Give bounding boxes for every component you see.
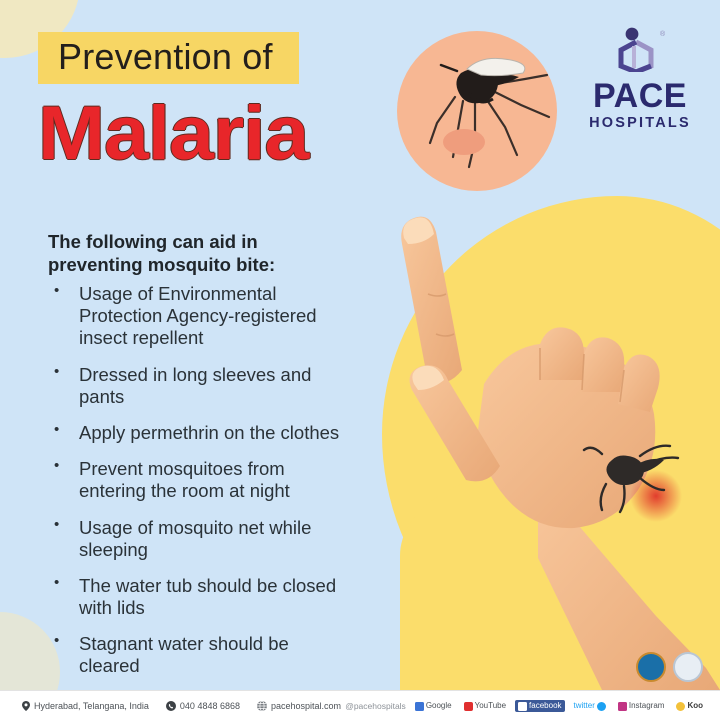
google-icon — [415, 702, 424, 711]
list-item: Usage of mosquito net while sleeping — [48, 517, 348, 561]
social-badge-facebook[interactable]: facebook — [515, 700, 564, 712]
footer-bar: Hyderabad, Telangana, India 040 4848 686… — [0, 690, 720, 720]
title-highlight-box: Prevention of — [38, 32, 299, 84]
social-badge-instagram[interactable]: Instagram — [615, 700, 668, 712]
accreditation-seal-blue — [636, 652, 666, 682]
list-item: Dressed in long sleeves and pants — [48, 364, 348, 408]
footer-website-text: pacehospital.com — [271, 701, 341, 711]
brand-logo: ® PACE HOSPITALS — [576, 26, 704, 131]
phone-icon — [166, 701, 176, 711]
accreditation-seals — [636, 652, 703, 682]
list-item: The water tub should be closed with lids — [48, 575, 348, 619]
lead-text: The following can aid in preventing mosq… — [48, 230, 338, 277]
facebook-icon — [518, 702, 527, 711]
globe-icon — [257, 701, 267, 711]
logo-name: PACE — [576, 79, 704, 113]
social-badge-instagram-label: Instagram — [629, 702, 665, 710]
footer-social-handle: @pacehospitals — [345, 701, 406, 711]
social-badge-google-label: Google — [426, 702, 452, 710]
hexagon-person-icon: ® — [576, 26, 704, 72]
list-item: Prevent mosquitoes from entering the roo… — [48, 458, 348, 502]
logo-subtitle: HOSPITALS — [576, 116, 704, 131]
footer-location-text: Hyderabad, Telangana, India — [34, 701, 149, 711]
list-item: Usage of Environmental Protection Agency… — [48, 283, 348, 350]
social-badge-twitter-label: twitter — [574, 702, 595, 710]
list-item: Stagnant water should be cleared — [48, 633, 348, 677]
mosquito-icon — [397, 31, 557, 191]
instagram-icon — [618, 702, 627, 711]
footer-location: Hyderabad, Telangana, India — [22, 701, 149, 711]
footer-website[interactable]: pacehospital.com — [257, 701, 341, 711]
footer-phone[interactable]: 040 4848 6868 — [166, 701, 240, 711]
skin-welt — [443, 129, 485, 155]
social-badge-youtube-label: YouTube — [475, 702, 506, 710]
twitter-icon — [597, 702, 606, 711]
social-badge-youtube[interactable]: YouTube — [461, 700, 509, 712]
social-badge-twitter[interactable]: twitter — [571, 700, 609, 712]
page-title: Malaria — [38, 98, 308, 171]
social-badge-koo[interactable]: Koo — [673, 700, 706, 712]
social-badge-google[interactable]: Google — [412, 700, 455, 712]
koo-icon — [676, 702, 685, 711]
social-badge-facebook-label: facebook — [529, 702, 561, 710]
prevention-list: Usage of Environmental Protection Agency… — [48, 283, 348, 692]
footer-phone-text: 040 4848 6868 — [180, 701, 240, 711]
map-pin-icon — [22, 701, 30, 711]
social-badge-koo-label: Koo — [687, 702, 703, 710]
infographic-poster: Prevention of Malaria — [0, 0, 720, 720]
list-item: Apply permethrin on the clothes — [48, 422, 348, 444]
accreditation-seal-silver — [673, 652, 703, 682]
mosquito-medallion — [397, 31, 557, 191]
hand-illustration — [388, 198, 720, 690]
svg-text:®: ® — [660, 30, 666, 38]
title-top-line: Prevention of — [58, 39, 273, 75]
youtube-icon — [464, 702, 473, 711]
